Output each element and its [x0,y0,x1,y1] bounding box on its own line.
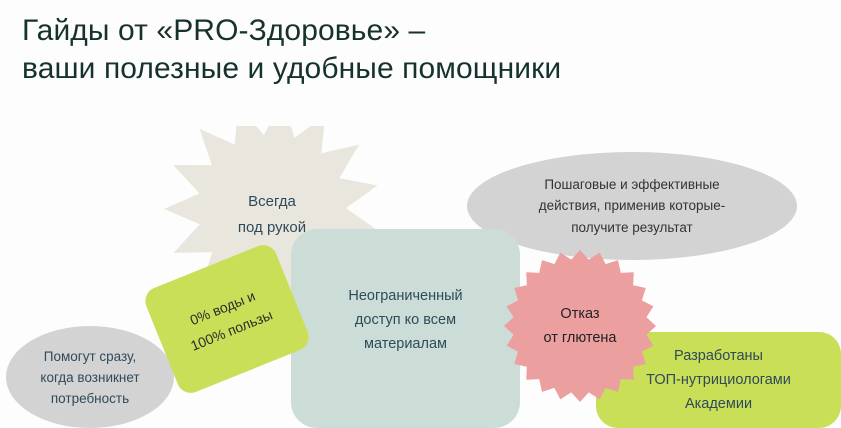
mint-rounded-box-label: Неограниченный доступ ко всем материалам [348,284,462,356]
pink-starburst-icon [504,250,656,402]
ellipse-bottom-left-shape: Помогут сразу, когда возникнет потребнос… [6,326,174,428]
page-title: Гайды от «PRO-Здоровье» – ваши полезные … [22,12,722,88]
ellipse-bottom-left-label: Помогут сразу, когда возникнет потребнос… [40,346,139,409]
slide-canvas: Гайды от «PRO-Здоровье» – ваши полезные … [0,0,841,428]
lime-rotated-square-label: 0% воды и 100% пользы [178,281,276,358]
ellipse-top-right-label: Пошаговые и эффективные действия, примен… [539,174,725,239]
pink-starburst-shape: Отказ от глютена [504,250,656,402]
mint-rounded-box-shape: Неограниченный доступ ко всем материалам [291,229,520,428]
lime-rounded-box-label: Разработаны ТОП-нутрициологами Академии [646,344,791,416]
